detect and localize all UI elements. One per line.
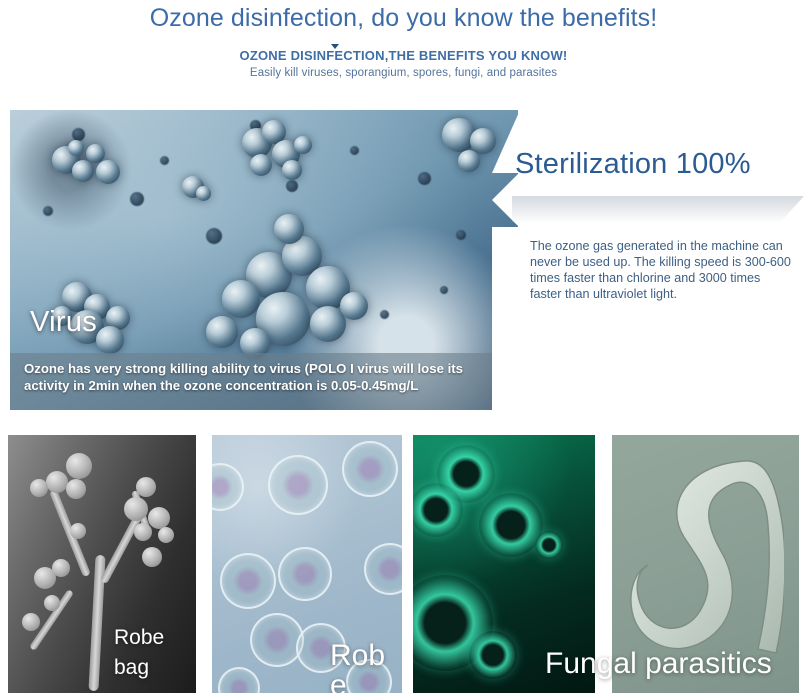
virus-dot	[350, 146, 359, 155]
virus-blob	[96, 160, 120, 184]
subtitle-block: OZONE DISINFECTION,THE BENEFITS YOU KNOW…	[0, 48, 807, 79]
virus-blob	[250, 154, 272, 176]
thumbnail-sporangium: Robe bag	[8, 435, 196, 693]
virus-caption-text: Ozone has very strong killing ability to…	[24, 360, 504, 394]
thumbnail-label-sporangium: Robe bag	[114, 623, 164, 683]
fungal-parasitics-label: Fungal parasitics	[545, 647, 772, 681]
panel-shadow-band	[512, 196, 804, 222]
hypha	[100, 510, 145, 584]
caret-icon	[331, 44, 339, 49]
virus-dot	[43, 206, 53, 216]
spore-cell	[268, 455, 328, 515]
virus-photo: Virus Ozone has very strong killing abil…	[10, 110, 518, 410]
virus-dot	[456, 230, 466, 240]
sporangium-art	[8, 435, 196, 693]
spore-ball	[44, 595, 60, 611]
spore-cell	[212, 463, 244, 511]
virus-blob	[274, 214, 304, 244]
spore-ball	[66, 479, 86, 499]
spore-ball	[158, 527, 174, 543]
virus-blob	[196, 186, 211, 201]
spore-ball	[22, 613, 40, 631]
spore-ball	[52, 559, 70, 577]
sterilization-panel: Sterilization 100% The ozone gas generat…	[518, 110, 797, 410]
spore-cell	[342, 441, 398, 497]
spore-ball	[136, 477, 156, 497]
panel-notch-bottom	[492, 227, 520, 410]
spore-ball	[142, 547, 162, 567]
virus-blob	[72, 160, 94, 182]
thumbnail-label-spores: Rob e	[330, 641, 385, 693]
subtitle-description: Easily kill viruses, sporangium, spores,…	[0, 67, 807, 79]
virus-blob	[470, 128, 496, 154]
spore-ball	[30, 479, 48, 497]
sterilization-body-text: The ozone gas generated in the machine c…	[530, 238, 792, 302]
virus-dot	[286, 180, 298, 192]
virus-dot	[160, 156, 169, 165]
spore-cell	[278, 547, 332, 601]
virus-blob	[68, 140, 84, 156]
thumbnail-spores: Rob e	[212, 435, 402, 693]
thumbnail-row: Robe bag Rob e	[0, 435, 807, 693]
spore-cell	[364, 543, 402, 595]
virus-particle	[535, 531, 563, 559]
hero-section: Virus Ozone has very strong killing abil…	[10, 110, 797, 410]
virus-particle	[413, 483, 463, 537]
subtitle-headline: OZONE DISINFECTION,THE BENEFITS YOU KNOW…	[0, 48, 807, 63]
virus-particle	[469, 631, 517, 679]
spore-ball	[124, 497, 148, 521]
spore-cell	[218, 667, 260, 693]
virus-blob	[206, 316, 238, 348]
virus-caption-band: Ozone has very strong killing ability to…	[10, 353, 518, 410]
spore-cell	[220, 553, 276, 609]
virus-dot	[380, 310, 389, 319]
page-title: Ozone disinfection, do you know the bene…	[0, 4, 807, 33]
virus-dot	[130, 192, 144, 206]
spore-ball	[70, 523, 86, 539]
virus-particle	[479, 493, 543, 557]
nematode-icon	[626, 453, 784, 668]
virus-blob	[294, 136, 312, 154]
virus-dot	[418, 172, 431, 185]
spore-ball	[66, 453, 92, 479]
virus-blob	[340, 292, 368, 320]
virus-blob	[458, 150, 480, 172]
virus-dot	[72, 128, 85, 141]
spore-cell	[250, 613, 304, 667]
virus-dot	[206, 228, 222, 244]
virus-photo-label: Virus	[30, 306, 97, 339]
virus-blob	[222, 280, 260, 318]
virus-dot	[440, 286, 448, 294]
virus-blob	[282, 160, 302, 180]
spore-ball	[46, 471, 68, 493]
sterilization-heading: Sterilization 100%	[515, 148, 751, 181]
spore-ball	[134, 523, 152, 541]
spore-ball	[148, 507, 170, 529]
virus-blob	[96, 326, 124, 354]
